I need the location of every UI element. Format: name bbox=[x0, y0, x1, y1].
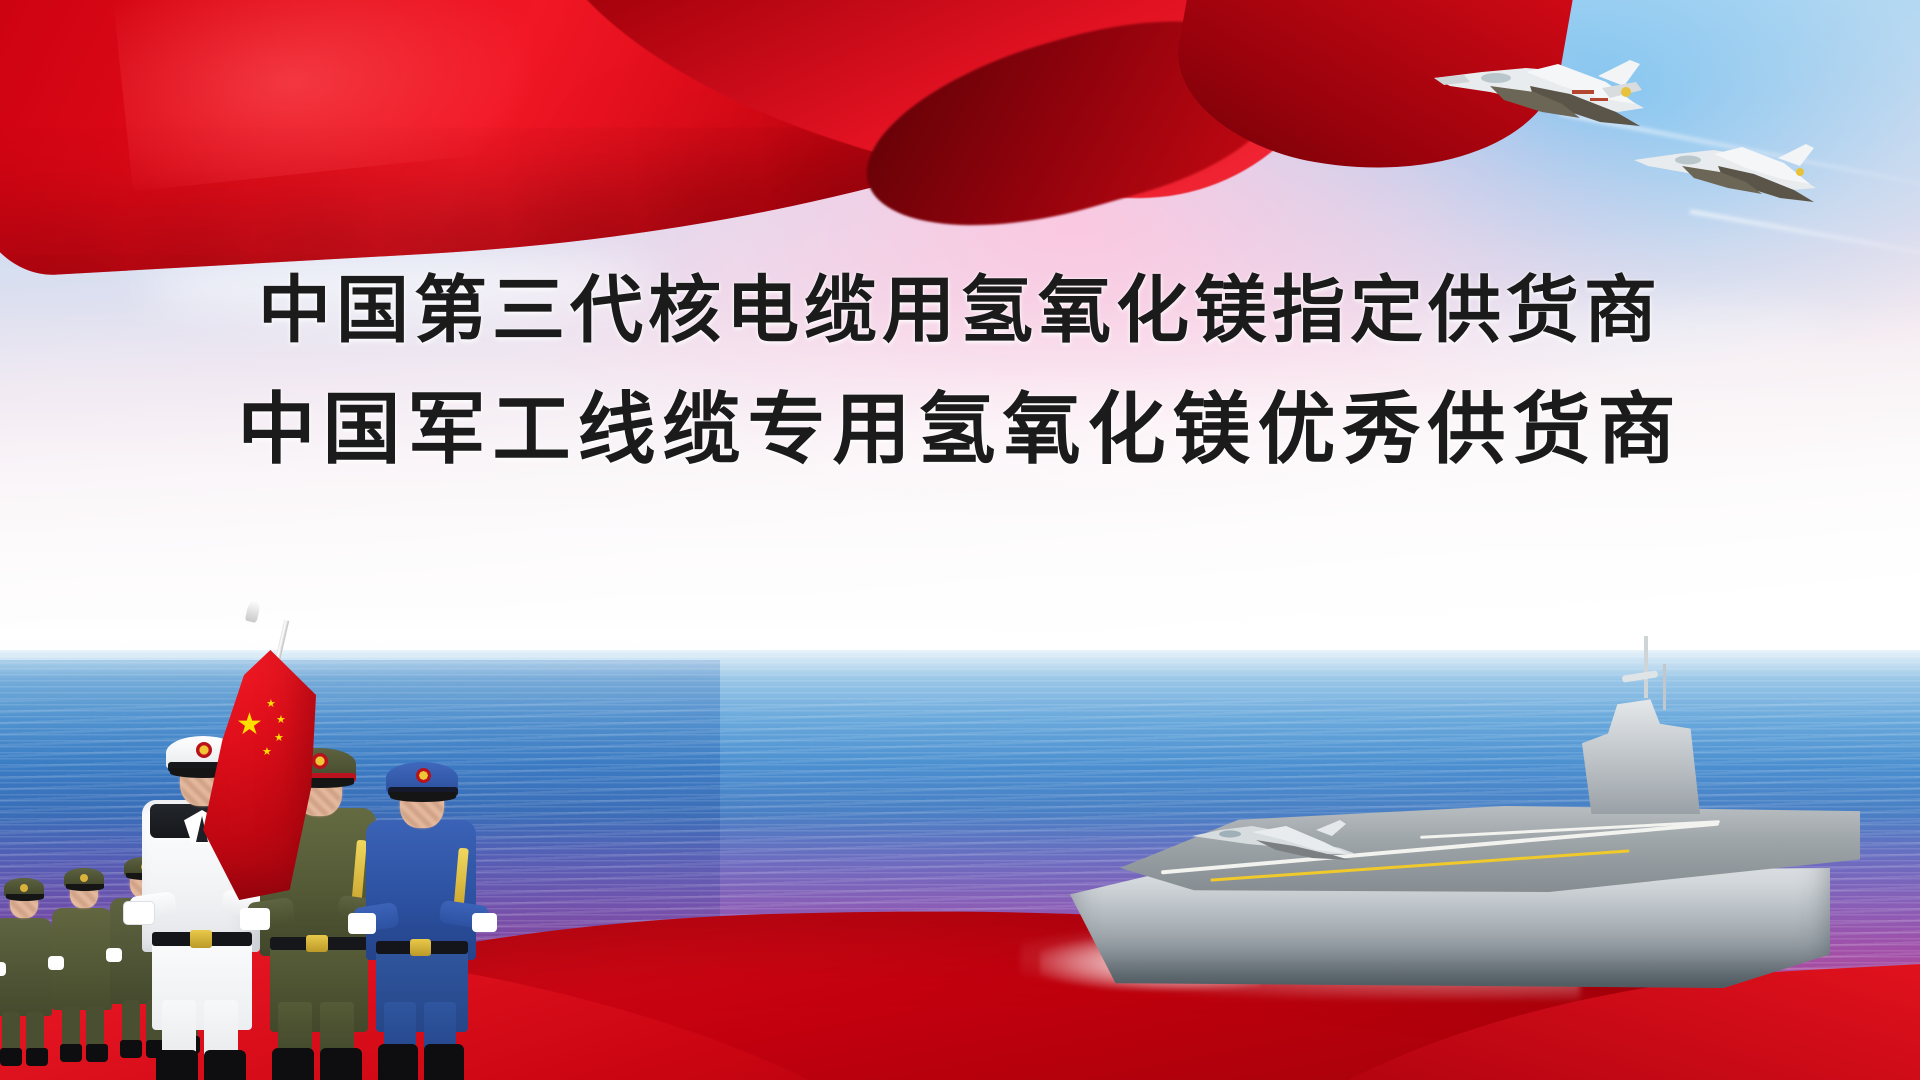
guard-air bbox=[352, 728, 494, 1064]
fighter-jet-wing-icon bbox=[1630, 128, 1820, 208]
headline-block: 中国第三代核电缆用氢氧化镁指定供货商 中国军工线缆专用氢氧化镁优秀供货商 bbox=[0, 252, 1920, 488]
ship-island-superstructure bbox=[1582, 692, 1700, 814]
ship-mast bbox=[1644, 636, 1648, 698]
carrier-borne-jet-icon bbox=[1190, 816, 1360, 860]
banner-canvas: 中国第三代核电缆用氢氧化镁指定供货商 中国军工线缆专用氢氧化镁优秀供货商 bbox=[0, 0, 1920, 1080]
honor-guard-formation: ★ ★ ★ ★ ★ bbox=[0, 620, 520, 1040]
flag-star-small: ★ bbox=[274, 733, 284, 744]
headline-line-2: 中国军工线缆专用氢氧化镁优秀供货商 bbox=[0, 370, 1920, 488]
fighter-jet-lead-icon bbox=[1430, 42, 1650, 132]
headline-line-1: 中国第三代核电缆用氢氧化镁指定供货商 bbox=[0, 252, 1920, 370]
aircraft-carrier bbox=[1000, 580, 1880, 1010]
radar-antenna-icon bbox=[1622, 670, 1659, 683]
flag-star-small: ★ bbox=[276, 715, 286, 726]
flag-star-small: ★ bbox=[262, 747, 272, 758]
flag-star-large: ★ bbox=[236, 710, 263, 740]
flag-star-small: ★ bbox=[266, 699, 276, 710]
ship-mast-secondary bbox=[1663, 664, 1666, 710]
